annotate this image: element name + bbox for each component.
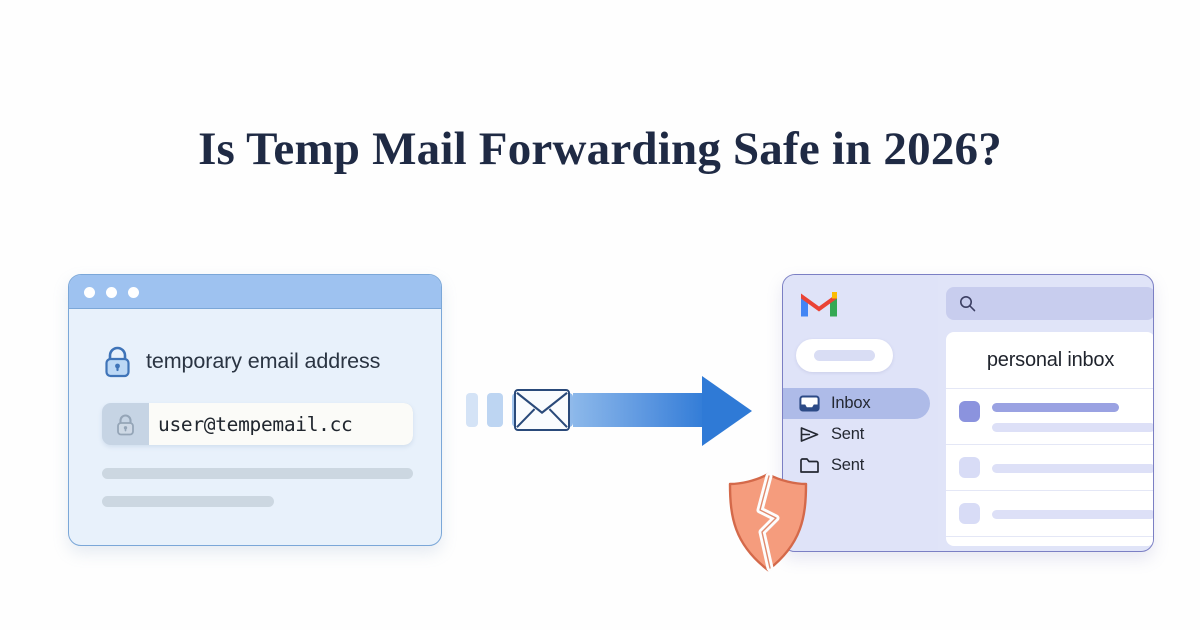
arrow-shaft <box>573 393 709 427</box>
lock-icon <box>102 345 133 378</box>
avatar <box>959 457 980 478</box>
sidebar-item-sent-label: Sent <box>831 425 864 444</box>
minimize-dot-icon[interactable] <box>106 287 117 298</box>
search-icon <box>959 295 976 312</box>
broken-shield-icon <box>722 470 814 574</box>
compose-button[interactable] <box>796 339 893 372</box>
mail-row[interactable] <box>946 389 1154 445</box>
mail-row[interactable] <box>946 491 1154 537</box>
inbox-title: personal inbox <box>946 332 1154 389</box>
mail-preview-bar <box>992 423 1154 432</box>
send-icon <box>799 425 820 444</box>
compose-button-placeholder-bar <box>814 350 875 361</box>
window-titlebar <box>69 275 441 309</box>
sidebar-item-inbox-label: Inbox <box>831 394 870 413</box>
temp-mail-window: temporary email address user@tempemail.c <box>68 274 442 546</box>
gmail-nav-list: Inbox Sent <box>783 388 938 481</box>
arrow-dash-1 <box>466 393 478 427</box>
inbox-panel: personal inbox <box>946 332 1154 546</box>
mail-row-content <box>992 503 1154 519</box>
temp-email-value-wrapper: user@tempemail.cc <box>149 403 413 445</box>
gmail-window: Inbox Sent <box>782 274 1154 552</box>
maximize-dot-icon[interactable] <box>128 287 139 298</box>
mail-subject-bar <box>992 510 1154 519</box>
temp-email-label-row: temporary email address <box>102 345 380 378</box>
lock-icon <box>115 413 136 436</box>
avatar <box>959 401 980 422</box>
mail-subject-bar <box>992 403 1119 412</box>
skeleton-line-2 <box>102 496 274 507</box>
field-lock-wrapper <box>102 403 149 445</box>
temp-email-label: temporary email address <box>146 349 380 374</box>
poster-canvas: Is Temp Mail Forwarding Safe in 2026? <box>0 0 1200 630</box>
mail-row-content <box>992 401 1154 432</box>
envelope-icon <box>514 389 570 431</box>
search-input[interactable] <box>946 287 1154 320</box>
mail-row-content <box>992 457 1154 473</box>
temp-mail-window-body: temporary email address user@tempemail.c <box>69 309 441 545</box>
sidebar-item-sent[interactable]: Sent <box>783 419 938 450</box>
arrow-dash-2 <box>487 393 503 427</box>
traffic-light-dots <box>84 287 139 298</box>
arrow-head <box>702 376 752 446</box>
gmail-main-area: personal inbox <box>938 275 1154 551</box>
inbox-icon <box>799 394 820 413</box>
skeleton-line-1 <box>102 468 413 479</box>
close-dot-icon[interactable] <box>84 287 95 298</box>
temp-email-value: user@tempemail.cc <box>149 413 352 436</box>
forwarding-arrow <box>466 376 756 446</box>
mail-subject-bar <box>992 464 1154 473</box>
avatar <box>959 503 980 524</box>
gmail-logo-icon <box>799 289 839 319</box>
temp-email-input[interactable]: user@tempemail.cc <box>102 403 413 445</box>
page-title: Is Temp Mail Forwarding Safe in 2026? <box>0 122 1200 176</box>
sidebar-item-inbox[interactable]: Inbox <box>783 388 930 419</box>
sidebar-item-folder-label: Sent <box>831 456 864 475</box>
mail-row[interactable] <box>946 445 1154 491</box>
